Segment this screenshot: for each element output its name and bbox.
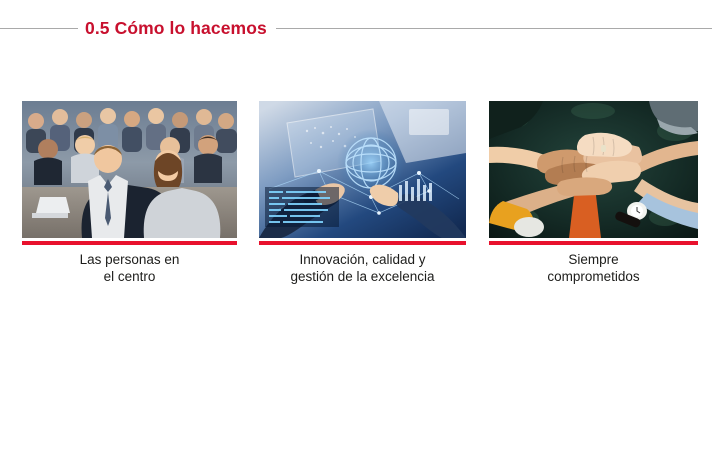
heading-rule-left (0, 28, 78, 29)
accent-bar (22, 241, 237, 245)
caption-line-1: Innovación, calidad y (259, 252, 466, 269)
hands-together-illustration (489, 101, 698, 238)
heading-rule-right (276, 28, 712, 29)
digital-innovation-illustration (259, 101, 466, 238)
page-title: 0.5 Cómo lo hacemos (78, 15, 276, 41)
card-innovation[interactable]: Innovación, calidad y gestión de la exce… (259, 101, 466, 285)
caption-line-1: Siempre (489, 252, 698, 269)
caption-line-2: el centro (22, 269, 237, 286)
caption-line-2: gestión de la excelencia (259, 269, 466, 286)
cards-row: Las personas en el centro (22, 101, 698, 291)
accent-bar (259, 241, 466, 245)
digital-innovation-photo (259, 101, 466, 238)
card-people[interactable]: Las personas en el centro (22, 101, 237, 285)
card-caption: Innovación, calidad y gestión de la exce… (259, 252, 466, 285)
hands-together-photo (489, 101, 698, 238)
card-caption: Las personas en el centro (22, 252, 237, 285)
accent-bar (489, 241, 698, 245)
people-group-illustration (22, 101, 237, 238)
caption-line-1: Las personas en (22, 252, 237, 269)
card-caption: Siempre comprometidos (489, 252, 698, 285)
section-heading: 0.5 Cómo lo hacemos (0, 15, 712, 41)
card-commitment[interactable]: Siempre comprometidos (489, 101, 698, 285)
people-group-photo (22, 101, 237, 238)
caption-line-2: comprometidos (489, 269, 698, 286)
